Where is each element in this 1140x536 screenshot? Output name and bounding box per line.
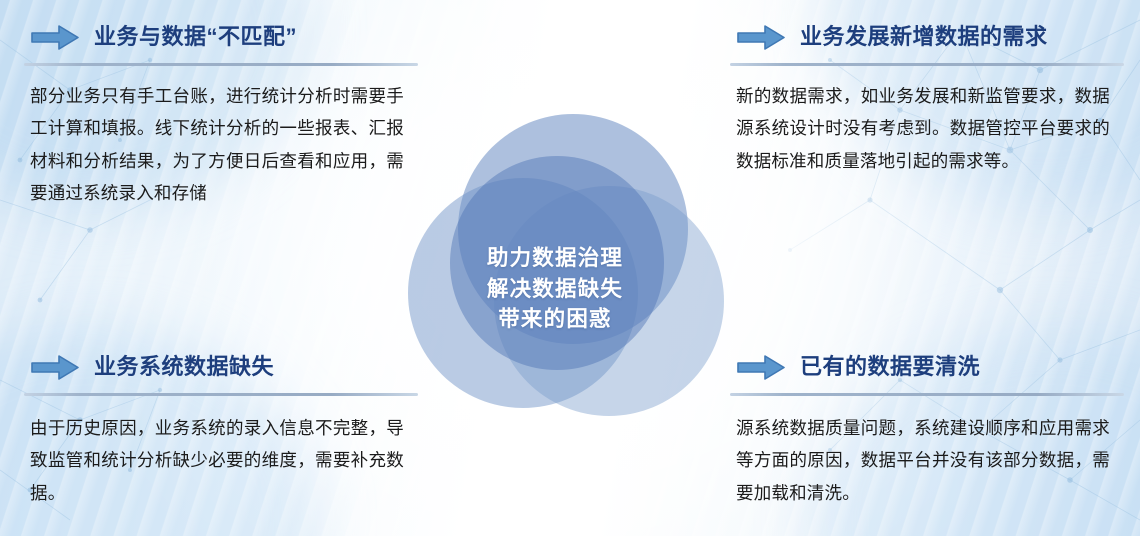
quadrant-body-text: 部分业务只有手工台账，进行统计分析时需要手工计算和填报。线下统计分析的一些报表、… (24, 80, 404, 210)
quadrant-header: 业务发展新增数据的需求 (730, 18, 1132, 56)
slide-canvas: 助力数据治理 解决数据缺失 带来的困惑 业务与数据“不匹配” 部分业务只有手工台… (0, 0, 1140, 536)
quadrant-title: 业务发展新增数据的需求 (800, 26, 1048, 48)
quadrant-business-data-mismatch: 业务与数据“不匹配” 部分业务只有手工台账，进行统计分析时需要手工计算和填报。线… (24, 18, 426, 210)
quadrant-title: 已有的数据要清洗 (800, 356, 980, 378)
quadrant-divider (24, 393, 418, 396)
arrow-right-icon (736, 354, 786, 381)
arrow-right-icon (30, 354, 80, 381)
quadrant-system-data-missing: 业务系统数据缺失 由于历史原因，业务系统的录入信息不完整，导致监管和统计分析缺少… (24, 348, 426, 509)
quadrant-header: 已有的数据要清洗 (730, 348, 1132, 386)
quadrant-body-text: 源系统数据质量问题，系统建设顺序和应用需求等方面的原因，数据平台并没有该部分数据… (730, 412, 1110, 509)
quadrant-title: 业务系统数据缺失 (94, 356, 274, 378)
quadrant-header: 业务与数据“不匹配” (24, 18, 426, 56)
arrow-right-icon (736, 24, 786, 51)
quadrant-new-data-demand: 业务发展新增数据的需求 新的数据需求，如业务发展和新监管要求，数据源系统设计时没… (730, 18, 1132, 177)
quadrant-divider (24, 63, 418, 66)
quadrant-body-text: 新的数据需求，如业务发展和新监管要求，数据源系统设计时没有考虑到。数据管控平台要… (730, 80, 1110, 177)
quadrant-header: 业务系统数据缺失 (24, 348, 426, 386)
quadrant-title: 业务与数据“不匹配” (94, 26, 297, 48)
quadrant-existing-data-cleansing: 已有的数据要清洗 源系统数据质量问题，系统建设顺序和应用需求等方面的原因，数据平… (730, 348, 1132, 509)
quadrant-divider (730, 393, 1124, 396)
quadrant-body-text: 由于历史原因，业务系统的录入信息不完整，导致监管和统计分析缺少必要的维度，需要补… (24, 412, 404, 509)
quadrant-divider (730, 63, 1124, 66)
arrow-right-icon (30, 24, 80, 51)
